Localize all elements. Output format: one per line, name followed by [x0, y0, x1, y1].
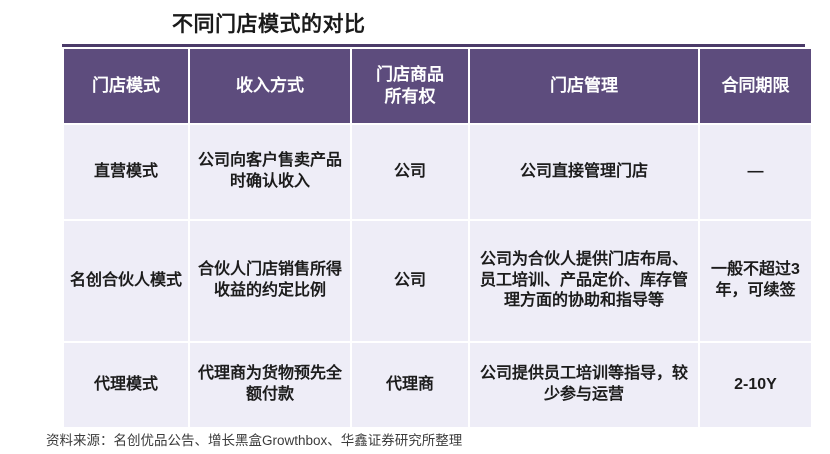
column-header-goods-ownership-line2: 所有权: [385, 87, 436, 106]
cell-term-1: 一般不超过3年，可续签: [700, 221, 811, 341]
slide-root: 不同门店模式的对比 门店模式 收入方式 门店商品 所有权 门店管理 合同期限: [0, 0, 830, 454]
cell-term-2: 2-10Y: [700, 343, 811, 427]
page-title: 不同门店模式的对比: [172, 8, 366, 38]
table-header-row: 门店模式 收入方式 门店商品 所有权 门店管理 合同期限: [64, 49, 811, 123]
cell-management-1: 公司为合伙人提供门店布局、员工培训、产品定价、库存管理方面的协助和指导等: [470, 221, 698, 341]
cell-mode-0: 直营模式: [64, 125, 188, 219]
cell-revenue-1: 合伙人门店销售所得收益的约定比例: [190, 221, 350, 341]
cell-management-2: 公司提供员工培训等指导，较少参与运营: [470, 343, 698, 427]
table-row: 名创合伙人模式 合伙人门店销售所得收益的约定比例 公司 公司为合伙人提供门店布局…: [64, 221, 811, 341]
cell-ownership-2: 代理商: [352, 343, 468, 427]
cell-mode-1: 名创合伙人模式: [64, 221, 188, 341]
column-header-store-management: 门店管理: [470, 49, 698, 123]
column-header-goods-ownership: 门店商品 所有权: [352, 49, 468, 123]
column-header-revenue-method: 收入方式: [190, 49, 350, 123]
table-row: 直营模式 公司向客户售卖产品时确认收入 公司 公司直接管理门店 —: [64, 125, 811, 219]
table-body: 直营模式 公司向客户售卖产品时确认收入 公司 公司直接管理门店 — 名创合伙人模…: [64, 125, 811, 427]
cell-term-0: —: [700, 125, 811, 219]
cell-ownership-0: 公司: [352, 125, 468, 219]
source-note: 资料来源：名创优品公告、增长黑盒Growthbox、华鑫证券研究所整理: [46, 429, 462, 449]
cell-mode-2: 代理模式: [64, 343, 188, 427]
column-header-goods-ownership-line1: 门店商品: [376, 65, 444, 84]
comparison-table: 门店模式 收入方式 门店商品 所有权 门店管理 合同期限 直营模式 公司向客户售…: [62, 47, 813, 429]
column-header-contract-term: 合同期限: [700, 49, 811, 123]
column-header-store-mode: 门店模式: [64, 49, 188, 123]
comparison-table-container: 门店模式 收入方式 门店商品 所有权 门店管理 合同期限 直营模式 公司向客户售…: [62, 44, 805, 429]
table-header: 门店模式 收入方式 门店商品 所有权 门店管理 合同期限: [64, 49, 811, 123]
cell-revenue-2: 代理商为货物预先全额付款: [190, 343, 350, 427]
cell-ownership-1: 公司: [352, 221, 468, 341]
cell-management-0: 公司直接管理门店: [470, 125, 698, 219]
cell-revenue-0: 公司向客户售卖产品时确认收入: [190, 125, 350, 219]
table-row: 代理模式 代理商为货物预先全额付款 代理商 公司提供员工培训等指导，较少参与运营…: [64, 343, 811, 427]
